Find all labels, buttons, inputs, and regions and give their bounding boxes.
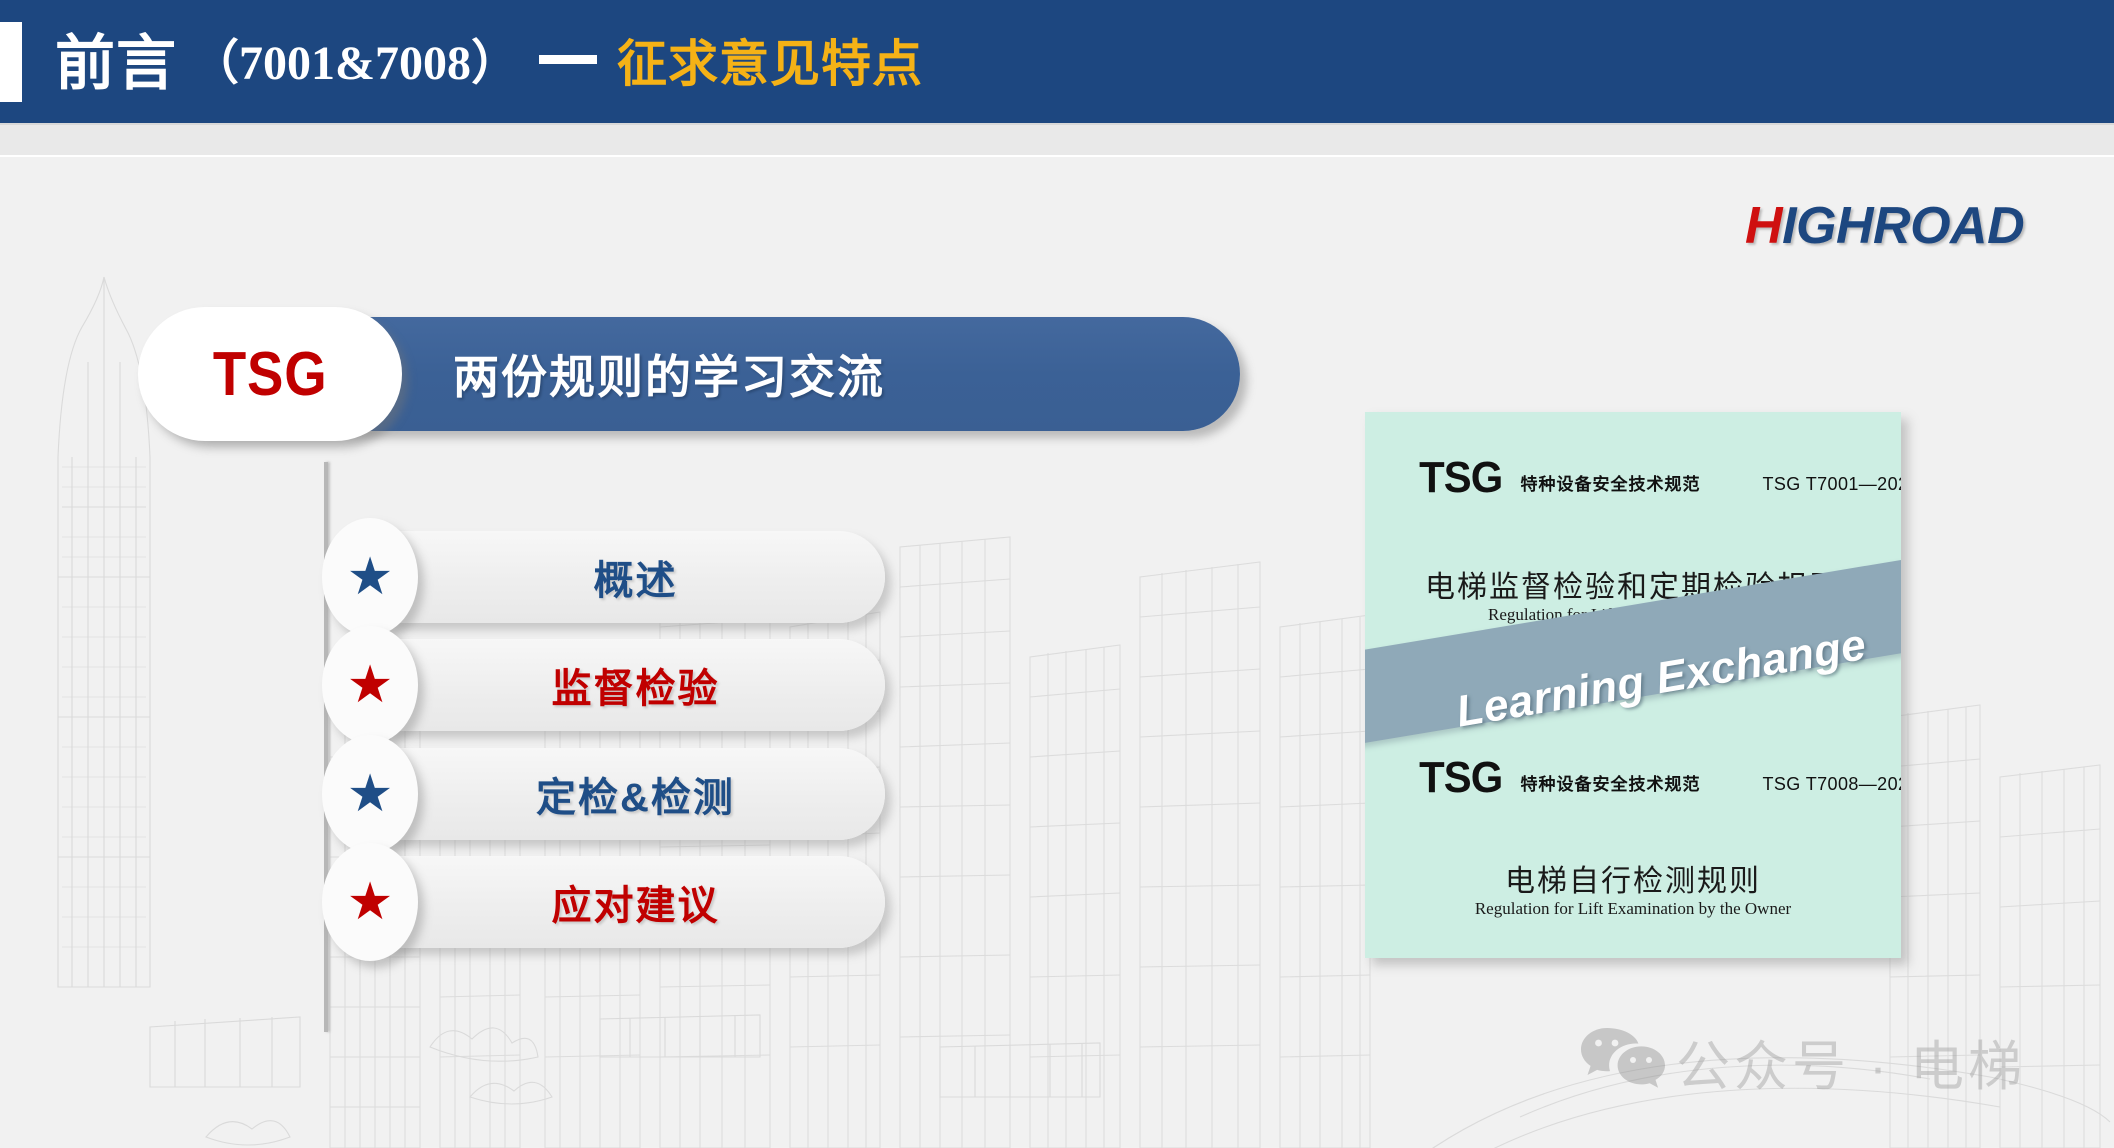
banner-title: 两份规则的学习交流 [453, 317, 885, 431]
agenda-item-label: 概述 [558, 548, 678, 606]
agenda-item-supervisory-inspection[interactable]: 监督检验 ★ [350, 639, 885, 731]
header-underband [0, 123, 2114, 157]
regulation-covers-image: TSG 特种设备安全技术规范 TSG T7001—2023 电梯监督检验和定期检… [1365, 412, 1901, 958]
cover-1-header: TSG 特种设备安全技术规范 TSG T7001—2023 [1417, 458, 1901, 498]
header-accent-bar [0, 22, 22, 102]
agenda-item-label: 定检&检测 [500, 765, 735, 823]
star-icon: ★ [347, 768, 394, 820]
cover-2-tsg-mark: TSG [1419, 758, 1502, 798]
cover-2-header: TSG 特种设备安全技术规范 TSG T7008—2023 [1417, 758, 1901, 798]
logo-first-letter: H [1745, 197, 1782, 255]
cover-2-subtitle: Regulation for Lift Examination by the O… [1365, 898, 1901, 919]
page-title-parenthetical: （7001&7008） [191, 40, 519, 88]
title-dash-divider [539, 55, 597, 64]
agenda-item-recommendations[interactable]: 应对建议 ★ [350, 856, 885, 948]
banner-badge-label: TSG [213, 339, 328, 410]
logo-rest: IGHROAD [1782, 197, 2024, 255]
highroad-logo: HIGHROAD [1745, 196, 2024, 256]
agenda-item-badge: ★ [322, 735, 418, 853]
agenda-item-badge: ★ [322, 518, 418, 636]
agenda-item-bar[interactable]: 定检&检测 [350, 748, 885, 840]
agenda-item-bar[interactable]: 概述 [350, 531, 885, 623]
cover-2-subtitle-line1: Regulation for Lift Examination by the O… [1365, 898, 1901, 919]
agenda-item-badge: ★ [322, 626, 418, 744]
slide-canvas: 前言 （7001&7008） 征求意见特点 [0, 0, 2114, 1148]
cover-1-tsg-mark: TSG [1419, 458, 1502, 498]
star-icon: ★ [347, 551, 394, 603]
banner-badge: TSG [138, 307, 402, 441]
slide-header: 前言 （7001&7008） 征求意见特点 [0, 0, 2114, 123]
page-title: 前言 （7001&7008） 征求意见特点 [55, 4, 923, 123]
agenda-item-bar[interactable]: 监督检验 [350, 639, 885, 731]
cover-2-code: TSG T7008—2023 [1762, 774, 1901, 798]
agenda-item-periodical-and-examination[interactable]: 定检&检测 ★ [350, 748, 885, 840]
page-title-main: 前言 [55, 34, 177, 94]
agenda-item-overview[interactable]: 概述 ★ [350, 531, 885, 623]
star-icon: ★ [347, 876, 394, 928]
agenda-item-label: 应对建议 [516, 873, 720, 931]
wechat-watermark: 公众号 · 电梯 [1580, 1022, 2026, 1101]
watermark-text: 公众号 · 电梯 [1676, 1022, 2026, 1101]
cover-1-code: TSG T7001—2023 [1762, 474, 1901, 498]
agenda-item-label: 监督检验 [516, 656, 720, 714]
page-title-highlight: 征求意见特点 [617, 39, 923, 89]
cover-2-spec-label: 特种设备安全技术规范 [1520, 770, 1700, 798]
agenda-item-bar[interactable]: 应对建议 [350, 856, 885, 948]
section-banner[interactable]: TSG 两份规则的学习交流 [148, 317, 1240, 431]
cover-1-spec-label: 特种设备安全技术规范 [1520, 470, 1700, 498]
wechat-icon [1580, 1026, 1666, 1097]
cover-2-title: 电梯自行检测规则 [1365, 856, 1901, 900]
agenda-item-badge: ★ [322, 843, 418, 961]
star-icon: ★ [347, 659, 394, 711]
